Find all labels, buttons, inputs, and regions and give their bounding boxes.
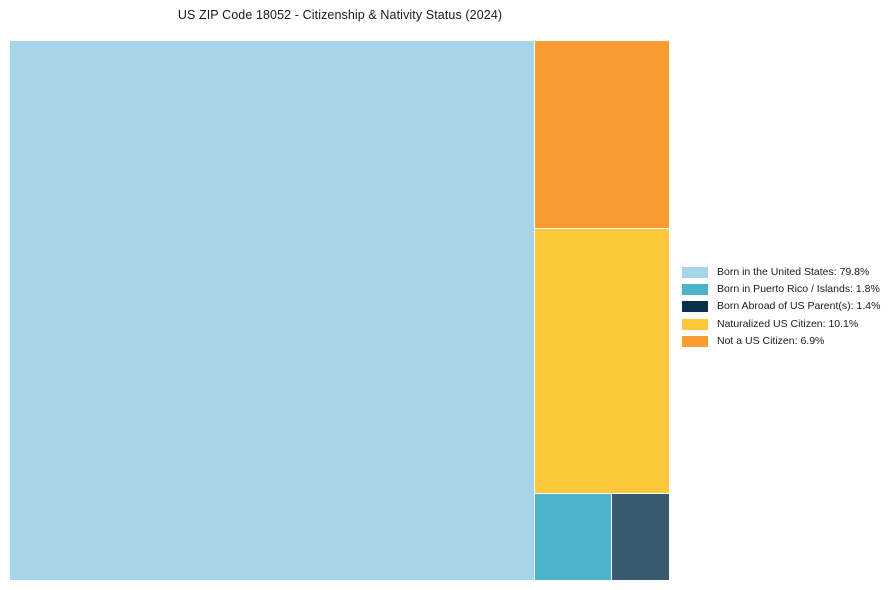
legend-item-label: Naturalized US Citizen: 10.1% [717, 319, 858, 330]
legend-item[interactable]: Not a US Citizen: 6.9% [682, 333, 882, 350]
treemap-plot-area [10, 41, 669, 580]
legend-item[interactable]: Born Abroad of US Parent(s): 1.4% [682, 298, 882, 315]
legend-item-label: Born Abroad of US Parent(s): 1.4% [717, 301, 880, 312]
tile-born-in-united-states[interactable] [10, 41, 534, 580]
legend-color-swatch-icon [682, 284, 708, 295]
legend-color-swatch-icon [682, 336, 708, 347]
legend-item-label: Not a US Citizen: 6.9% [717, 336, 824, 347]
treemap-figure: US ZIP Code 18052 - Citizenship & Nativi… [0, 0, 889, 590]
legend-color-swatch-icon [682, 319, 708, 330]
page-title: US ZIP Code 18052 - Citizenship & Nativi… [0, 8, 680, 22]
tile-naturalized-us-citizen[interactable] [535, 229, 669, 493]
legend-color-swatch-icon [682, 301, 708, 312]
legend-color-swatch-icon [682, 267, 708, 278]
legend-item[interactable]: Naturalized US Citizen: 10.1% [682, 316, 882, 333]
legend-item-label: Born in the United States: 79.8% [717, 267, 869, 278]
legend-item[interactable]: Born in Puerto Rico / Islands: 1.8% [682, 281, 882, 298]
tile-not-a-us-citizen[interactable] [535, 41, 669, 228]
legend-item[interactable]: Born in the United States: 79.8% [682, 264, 882, 281]
tile-born-in-puerto-rico-islands[interactable] [535, 494, 611, 580]
legend-item-label: Born in Puerto Rico / Islands: 1.8% [717, 284, 880, 295]
tile-born-abroad-of-us-parents[interactable] [612, 494, 669, 580]
legend: Born in the United States: 79.8%Born in … [682, 264, 882, 350]
